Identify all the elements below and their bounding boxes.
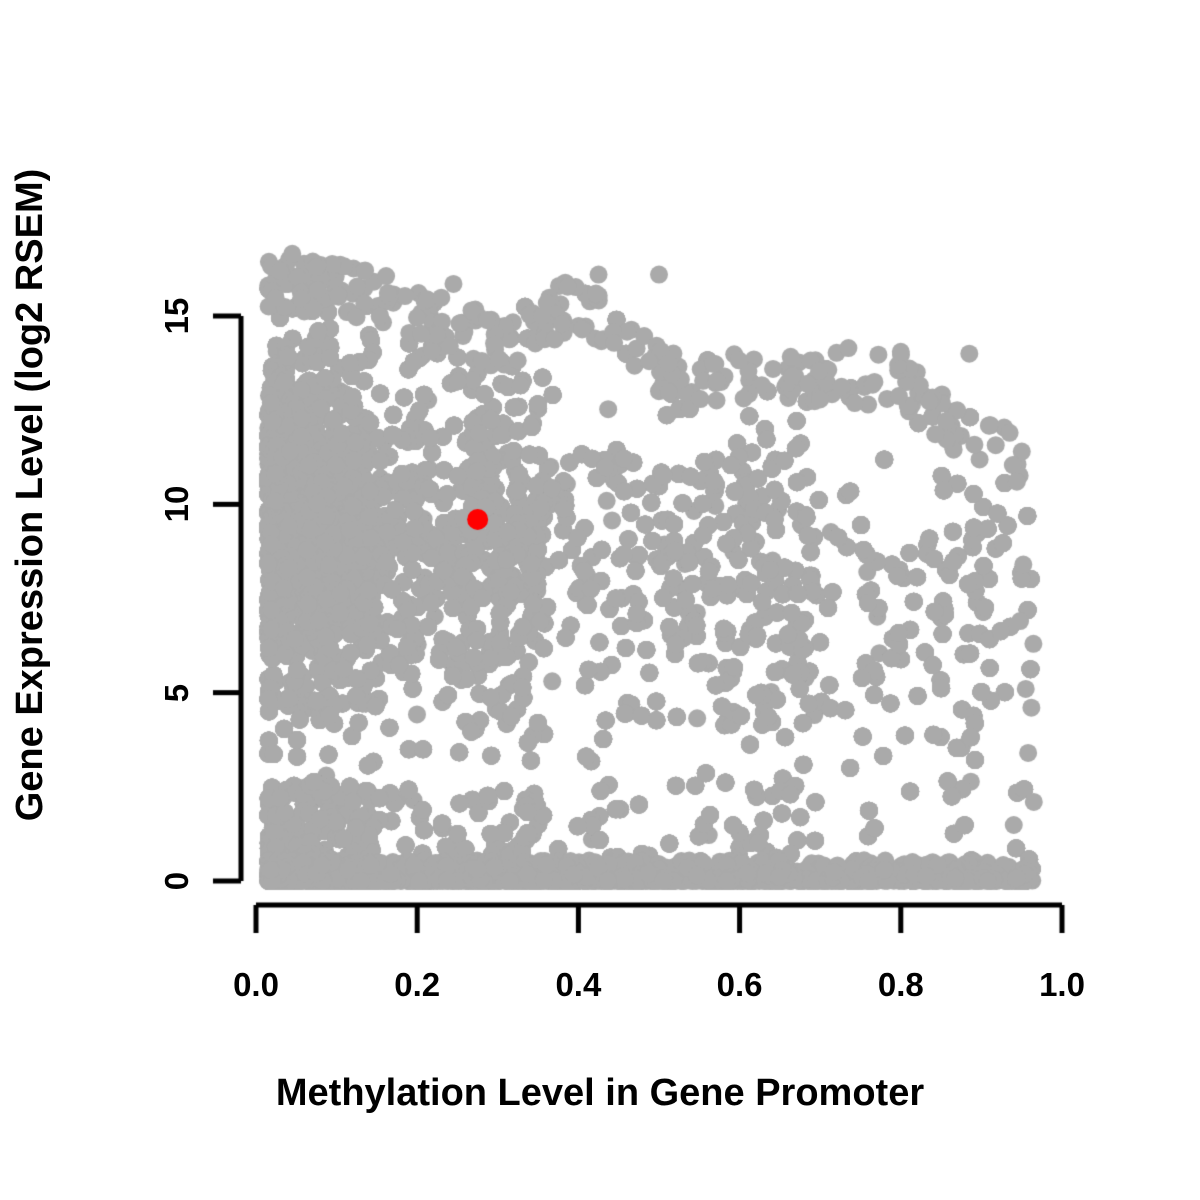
y-axis-title: Gene Expression Level (log2 RSEM) (0, 0, 60, 1095)
x-tick-label: 1.0 (1039, 966, 1085, 1004)
x-axis-title: Methylation Level in Gene Promoter (0, 1072, 1200, 1115)
y-tick-label: 10 (157, 482, 197, 526)
scatter-plot-figure: All genes ELK1 0.00.20.40.60.81.0 051015… (0, 0, 1200, 1200)
y-tick-label: 15 (157, 294, 197, 338)
x-tick-label: 0.6 (717, 966, 763, 1004)
scatter-canvas (0, 0, 1200, 1200)
x-tick-label: 0.2 (394, 966, 440, 1004)
y-tick-label: 0 (157, 859, 197, 903)
plot-area (0, 0, 1200, 1200)
x-tick-label: 0.8 (878, 966, 924, 1004)
x-tick-label: 0.0 (233, 966, 279, 1004)
y-tick-label: 5 (157, 671, 197, 715)
x-tick-label: 0.4 (555, 966, 601, 1004)
